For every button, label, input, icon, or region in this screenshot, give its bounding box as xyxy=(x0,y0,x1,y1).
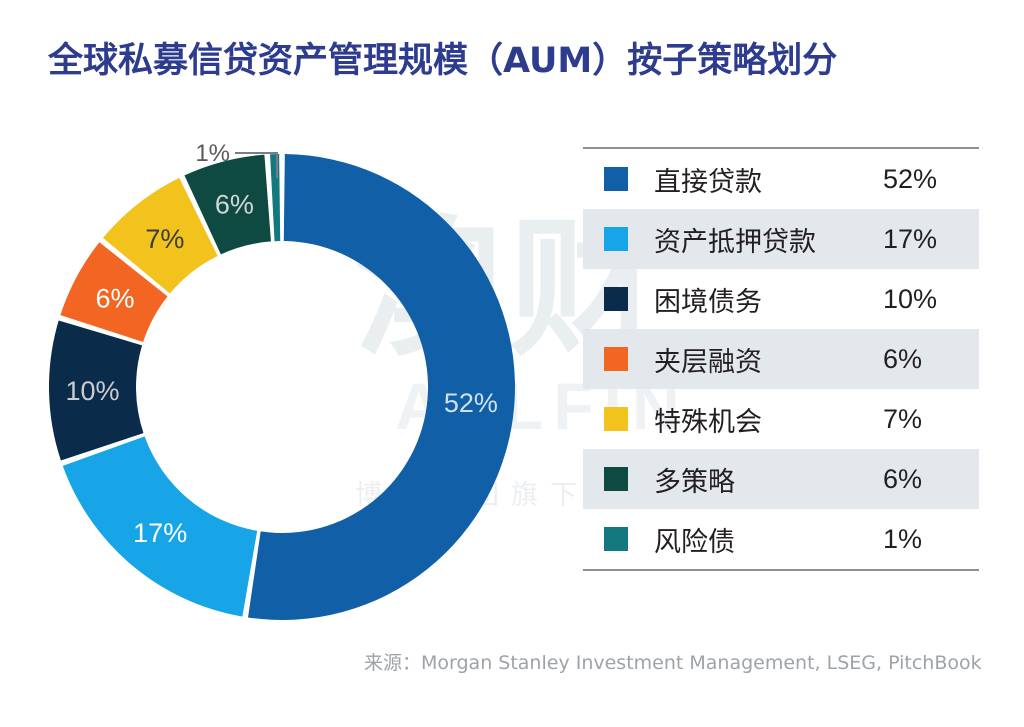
donut-slice-label-0: 52% xyxy=(444,388,498,418)
legend-row-0[interactable]: 直接贷款 52% xyxy=(583,149,979,209)
legend-value-6: 1% xyxy=(883,524,979,555)
legend-value-0: 52% xyxy=(883,164,979,195)
legend-value-4: 7% xyxy=(883,404,979,435)
donut-slice-label-6: 1% xyxy=(195,140,230,167)
legend-swatch-icon-0 xyxy=(604,167,628,191)
legend-row-1[interactable]: 资产抵押贷款 17% xyxy=(583,209,979,269)
legend-row-4[interactable]: 特殊机会 7% xyxy=(583,389,979,449)
legend-row-6[interactable]: 风险债 1% xyxy=(583,509,979,569)
legend-swatch-icon-1 xyxy=(604,227,628,251)
chart-page: 澳财 ALLFIN ® 博满集团旗下企业 全球私募信贷资产管理规模（AUM）按子… xyxy=(0,0,1024,727)
legend-swatch-icon-5 xyxy=(604,467,628,491)
donut-slice-label-2: 10% xyxy=(66,376,120,406)
donut-slice-label-4: 7% xyxy=(145,224,184,254)
legend-value-2: 10% xyxy=(883,284,979,315)
legend-label-4: 特殊机会 xyxy=(654,400,883,439)
page-title: 全球私募信贷资产管理规模（AUM）按子策略划分 xyxy=(48,32,837,83)
legend-swatch-icon-3 xyxy=(604,347,628,371)
legend-row-3[interactable]: 夹层融资 6% xyxy=(583,329,979,389)
donut-slice-label-5: 6% xyxy=(215,190,254,220)
legend-row-2[interactable]: 困境债务 10% xyxy=(583,269,979,329)
legend-row-5[interactable]: 多策略 6% xyxy=(583,449,979,509)
legend-label-3: 夹层融资 xyxy=(654,340,883,379)
source-note: 来源：Morgan Stanley Investment Management,… xyxy=(364,648,982,675)
donut-slice-label-1: 17% xyxy=(133,518,187,548)
legend-label-1: 资产抵押贷款 xyxy=(654,220,883,259)
legend-label-6: 风险债 xyxy=(654,520,883,559)
donut-slice-label-3: 6% xyxy=(95,284,134,314)
legend-swatch-icon-4 xyxy=(604,407,628,431)
donut-chart-svg: 52%17%10%6%7%6%1% xyxy=(30,140,535,635)
legend-label-0: 直接贷款 xyxy=(654,160,883,199)
legend-swatch-icon-2 xyxy=(604,287,628,311)
donut-slice-6[interactable] xyxy=(270,154,280,241)
donut-chart: 52%17%10%6%7%6%1% xyxy=(30,140,535,635)
legend-label-2: 困境债务 xyxy=(654,280,883,319)
legend-value-5: 6% xyxy=(883,464,979,495)
legend-value-1: 17% xyxy=(883,224,979,255)
legend-swatch-icon-6 xyxy=(604,527,628,551)
legend-label-5: 多策略 xyxy=(654,460,883,499)
donut-slice-0[interactable] xyxy=(248,154,515,620)
legend-value-3: 6% xyxy=(883,344,979,375)
legend-table: 直接贷款 52% 资产抵押贷款 17% 困境债务 10% 夹层融资 6% 特殊机… xyxy=(583,147,979,571)
